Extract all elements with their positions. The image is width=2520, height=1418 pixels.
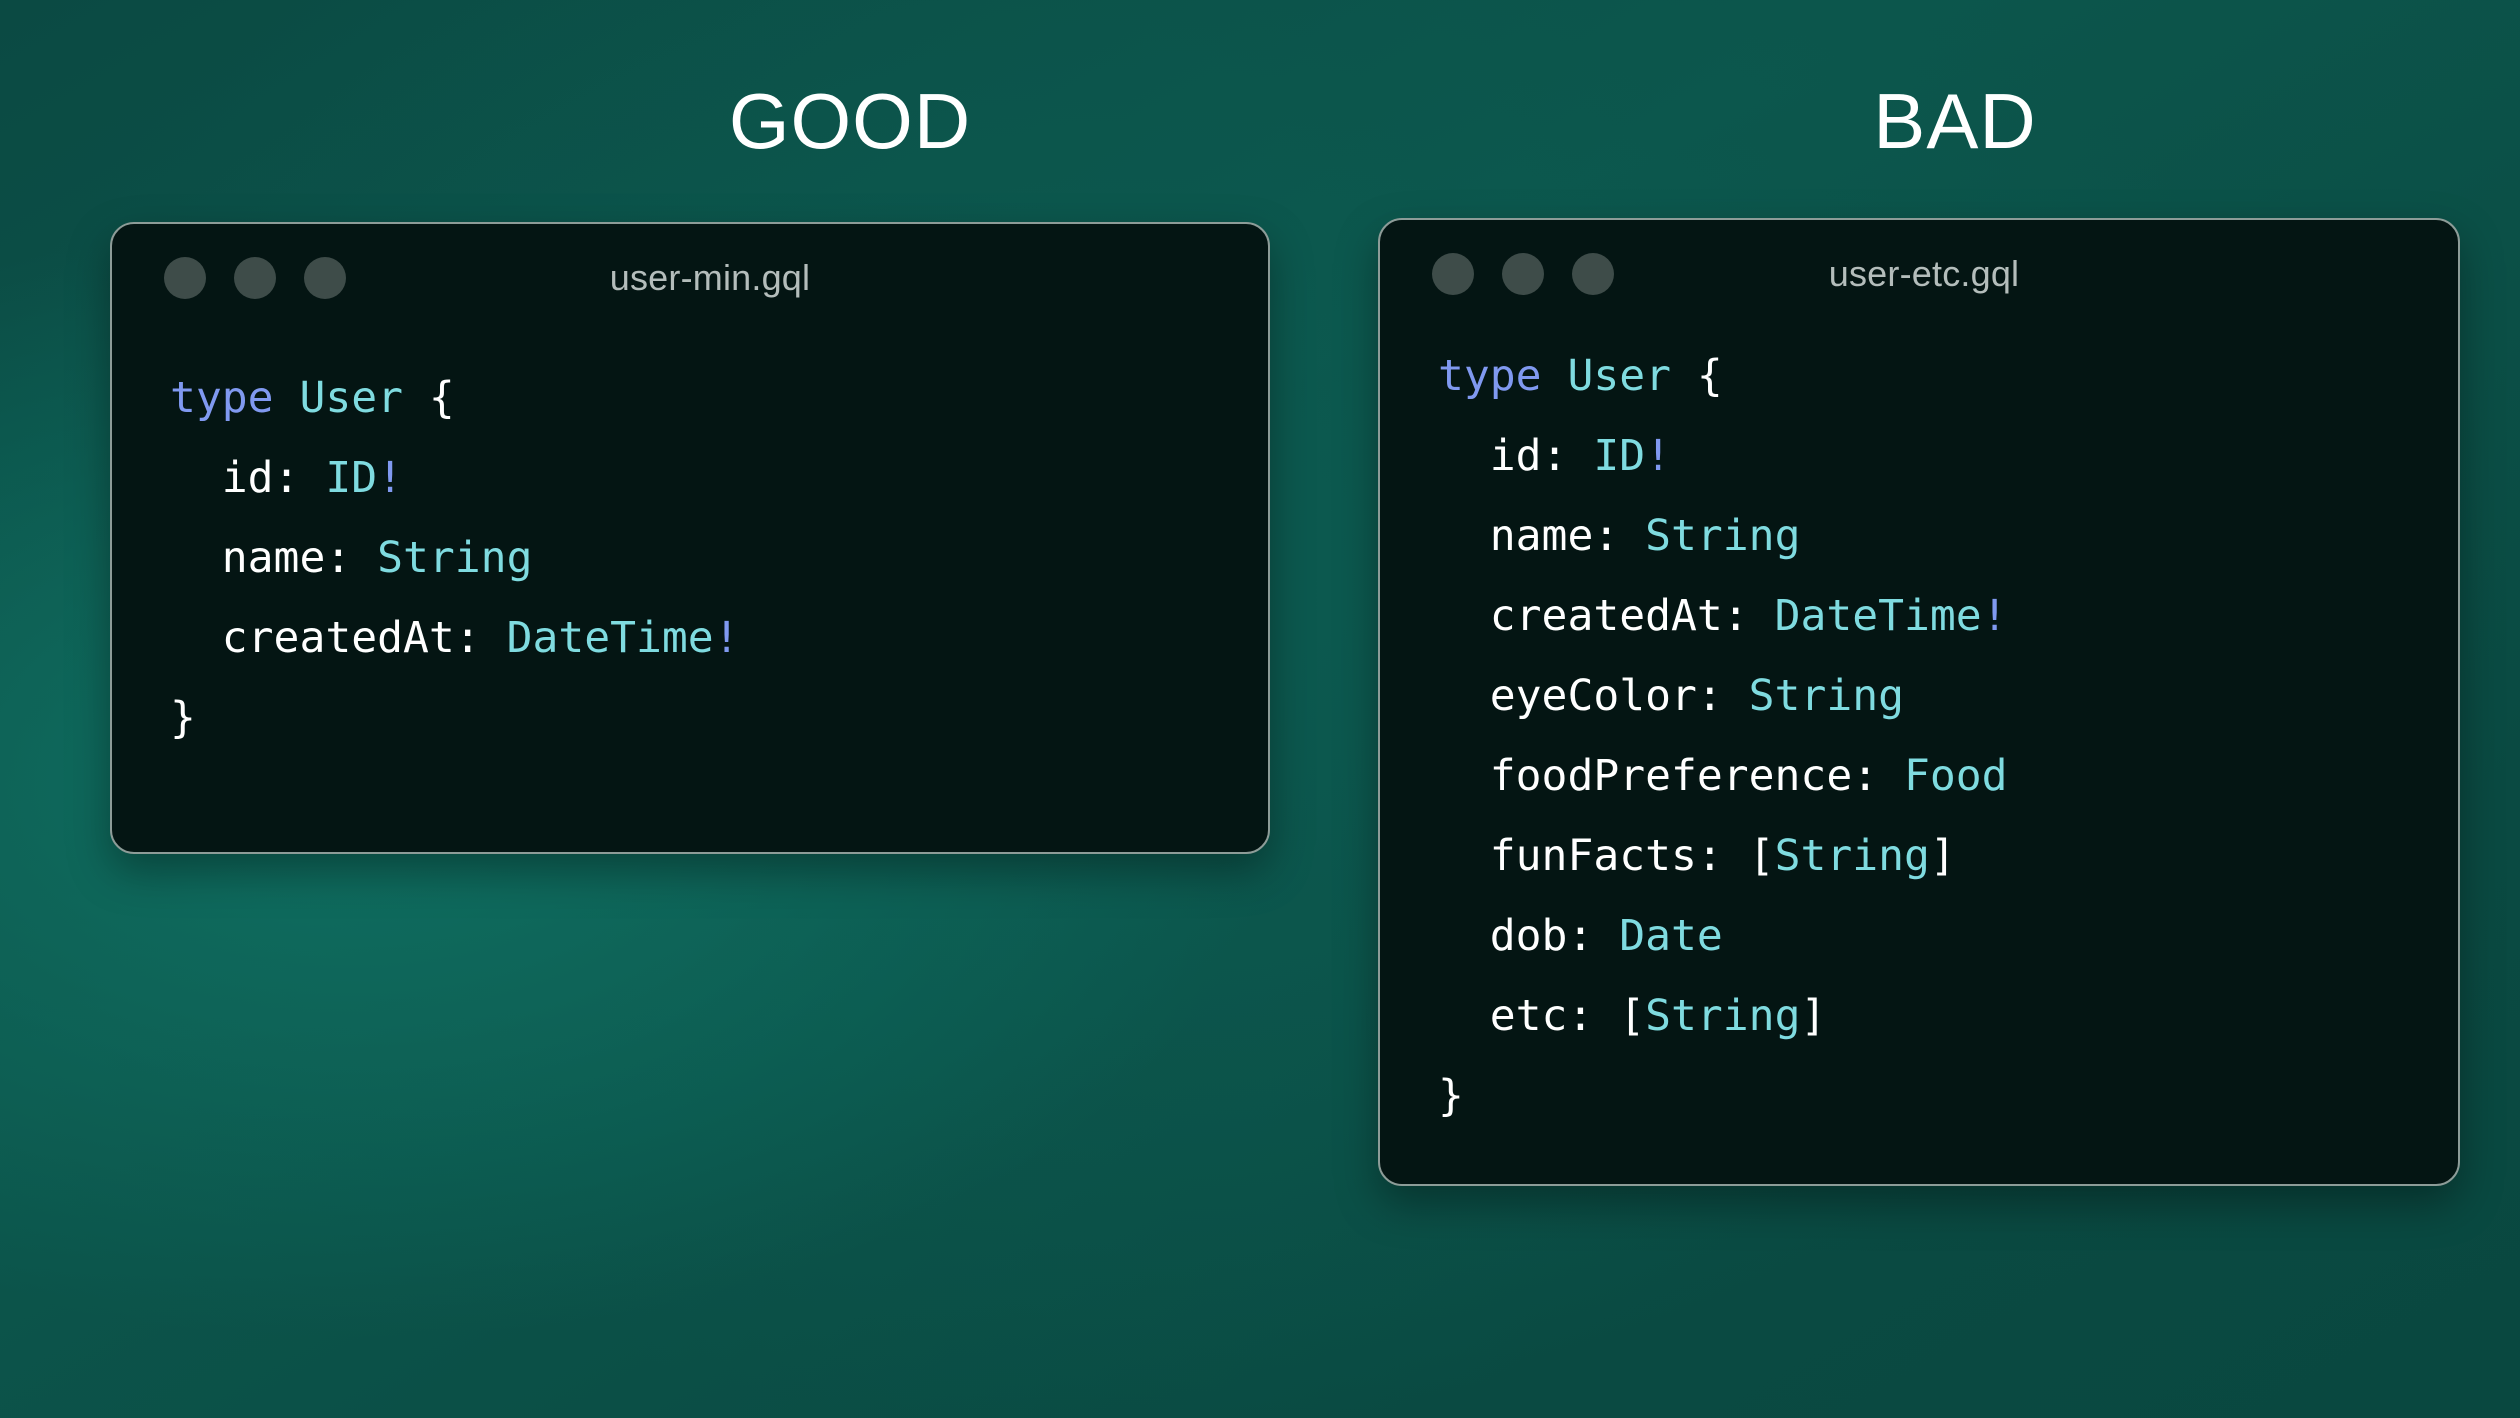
code-line: foodPreference: Food [1438, 736, 2458, 816]
code-token-field: createdAt [1438, 591, 1723, 641]
code-block-good: type User { id: ID! name: String created… [112, 332, 1268, 758]
code-line: name: String [1438, 496, 2458, 576]
code-token-field: createdAt [170, 613, 455, 663]
code-token-field: foodPreference [1438, 751, 1852, 801]
code-token-field: funFacts [1438, 831, 1697, 881]
close-dot-icon[interactable] [164, 257, 206, 299]
code-token-field: name [170, 533, 325, 583]
code-token-brace: } [170, 693, 196, 743]
code-token-brace: [ [1619, 991, 1645, 1041]
code-token-punct: : [1697, 671, 1749, 721]
code-token-brace: ] [1930, 831, 1956, 881]
code-token-type: Food [1904, 751, 2008, 801]
code-token-type: Date [1619, 911, 1723, 961]
code-token-field: id [1438, 431, 1542, 481]
code-token-punct: : [1697, 831, 1749, 881]
code-token-punct: : [1723, 591, 1775, 641]
window-titlebar: user-min.gql [112, 224, 1268, 332]
code-token-type: String [1645, 511, 1800, 561]
minimize-dot-icon[interactable] [1502, 253, 1544, 295]
code-token-bang: ! [1982, 591, 2008, 641]
code-line: type User { [170, 358, 1268, 438]
code-token-type: ID [1593, 431, 1645, 481]
code-line: dob: Date [1438, 896, 2458, 976]
code-token-field: eyeColor [1438, 671, 1697, 721]
code-token-bang: ! [1645, 431, 1671, 481]
maximize-dot-icon[interactable] [1572, 253, 1614, 295]
code-token-type: User [299, 373, 403, 423]
code-line: id: ID! [170, 438, 1268, 518]
code-token-type: String [1775, 831, 1930, 881]
code-token-punct: : [455, 613, 507, 663]
code-line: funFacts: [String] [1438, 816, 2458, 896]
code-token-punct: : [274, 453, 326, 503]
code-token-brace: { [403, 373, 455, 423]
code-token-type: String [377, 533, 532, 583]
column-heading-bad: BAD [1450, 82, 2460, 160]
traffic-light-dots [112, 257, 346, 299]
traffic-light-dots [1380, 253, 1614, 295]
code-token-type: User [1567, 351, 1671, 401]
code-token-punct: : [325, 533, 377, 583]
code-token-field: dob [1438, 911, 1567, 961]
code-window-bad: user-etc.gql type User { id: ID! name: S… [1378, 218, 2460, 1186]
comparison-stage: GOOD BAD user-min.gql type User { id: ID… [0, 0, 2520, 1418]
code-line: etc: [String] [1438, 976, 2458, 1056]
code-line: createdAt: DateTime! [170, 598, 1268, 678]
code-token-type: DateTime [1775, 591, 1982, 641]
code-token-field: etc [1438, 991, 1567, 1041]
code-token-punct: : [1852, 751, 1904, 801]
code-token-punct: : [1542, 431, 1594, 481]
window-titlebar: user-etc.gql [1380, 220, 2458, 328]
code-line: id: ID! [1438, 416, 2458, 496]
code-token-type: String [1645, 991, 1800, 1041]
code-window-good: user-min.gql type User { id: ID! name: S… [110, 222, 1270, 854]
maximize-dot-icon[interactable] [304, 257, 346, 299]
code-line: } [170, 678, 1268, 758]
code-token-punct: : [1567, 991, 1619, 1041]
code-line: type User { [1438, 336, 2458, 416]
close-dot-icon[interactable] [1432, 253, 1474, 295]
code-line: name: String [170, 518, 1268, 598]
code-line: } [1438, 1056, 2458, 1136]
code-line: createdAt: DateTime! [1438, 576, 2458, 656]
code-token-brace: ] [1800, 991, 1826, 1041]
code-token-bang: ! [714, 613, 740, 663]
code-token-brace: { [1671, 351, 1723, 401]
code-token-punct: : [1567, 911, 1619, 961]
code-token-kw: type [170, 373, 299, 423]
column-heading-good: GOOD [330, 82, 1370, 160]
code-token-punct: : [1593, 511, 1645, 561]
code-token-kw: type [1438, 351, 1567, 401]
code-token-type: String [1749, 671, 1904, 721]
code-token-type: ID [325, 453, 377, 503]
code-line: eyeColor: String [1438, 656, 2458, 736]
code-token-type: DateTime [507, 613, 714, 663]
code-token-brace: [ [1749, 831, 1775, 881]
code-token-brace: } [1438, 1071, 1464, 1121]
code-token-field: name [1438, 511, 1593, 561]
code-block-bad: type User { id: ID! name: String created… [1380, 328, 2458, 1136]
code-token-bang: ! [377, 453, 403, 503]
minimize-dot-icon[interactable] [234, 257, 276, 299]
code-token-field: id [170, 453, 274, 503]
